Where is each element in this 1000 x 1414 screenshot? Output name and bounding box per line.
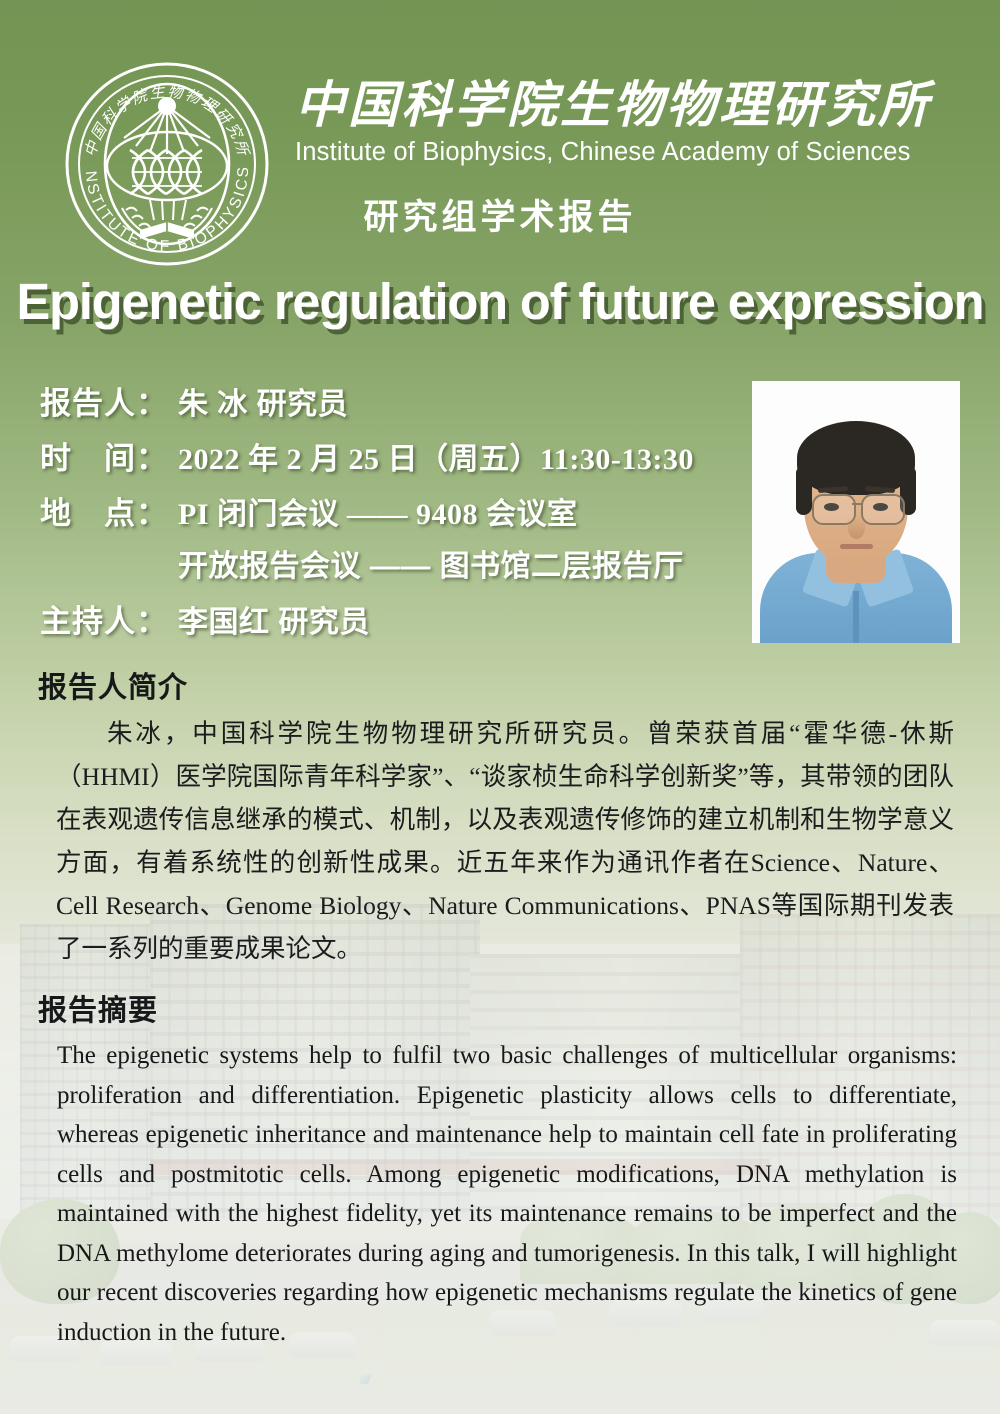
bio-heading: 报告人简介	[38, 664, 188, 706]
seminar-series-subhead: 研究组学术报告	[0, 189, 1000, 240]
info-row-venue-open: 开放报告会议 —— 图书馆二层报告厅	[40, 541, 740, 588]
seminar-poster: INSTITUTE OF BIOPHYSICS 中国科学院生物物理研究所 中国科…	[0, 0, 1000, 1414]
talk-info-block: 报告人： 朱 冰 研究员 时 间： 2022 年 2 月 25 日（周五）11:…	[40, 378, 740, 651]
photo-nose	[848, 517, 865, 539]
time-label: 时 间：	[40, 433, 178, 478]
info-row-host: 主持人： 李国红 研究员	[40, 596, 740, 643]
photo-hair	[797, 421, 915, 495]
host-label: 主持人：	[40, 596, 178, 641]
venue-value-open: 开放报告会议 —— 图书馆二层报告厅	[178, 541, 684, 585]
photo-glasses-right-lens	[861, 494, 905, 525]
host-value: 李国红 研究员	[178, 597, 370, 641]
venue-value-closed: PI 闭门会议 —— 9408 会议室	[178, 489, 578, 533]
institute-brand: 中国科学院生物物理研究所 Institute of Biophysics, Ch…	[295, 80, 895, 167]
time-value: 2022 年 2 月 25 日（周五）11:30-13:30	[178, 434, 694, 478]
info-row-speaker: 报告人： 朱 冰 研究员	[40, 378, 740, 425]
photo-hair-side-left	[796, 467, 812, 515]
abstract-paragraph: The epigenetic systems help to fulfil tw…	[57, 1036, 957, 1352]
venue-label: 地 点：	[40, 488, 178, 533]
speaker-label: 报告人：	[40, 378, 178, 423]
photo-glasses-bridge	[852, 503, 862, 505]
institute-name-cn: 中国科学院生物物理研究所	[295, 80, 895, 130]
bio-paragraph: 朱冰，中国科学院生物物理研究所研究员。曾荣获首届“霍华德-休斯（HHMI）医学院…	[56, 712, 954, 970]
speaker-value: 朱 冰 研究员	[178, 379, 348, 423]
institute-name-en: Institute of Biophysics, Chinese Academy…	[295, 138, 895, 167]
photo-shirt-placket	[853, 591, 859, 643]
photo-mouth	[840, 544, 873, 549]
info-row-time: 时 间： 2022 年 2 月 25 日（周五）11:30-13:30	[40, 433, 740, 480]
talk-title: Epigenetic regulation of future expressi…	[5, 272, 995, 331]
info-row-venue: 地 点： PI 闭门会议 —— 9408 会议室	[40, 488, 740, 535]
abstract-heading: 报告摘要	[38, 987, 158, 1029]
speaker-photo	[752, 381, 960, 643]
